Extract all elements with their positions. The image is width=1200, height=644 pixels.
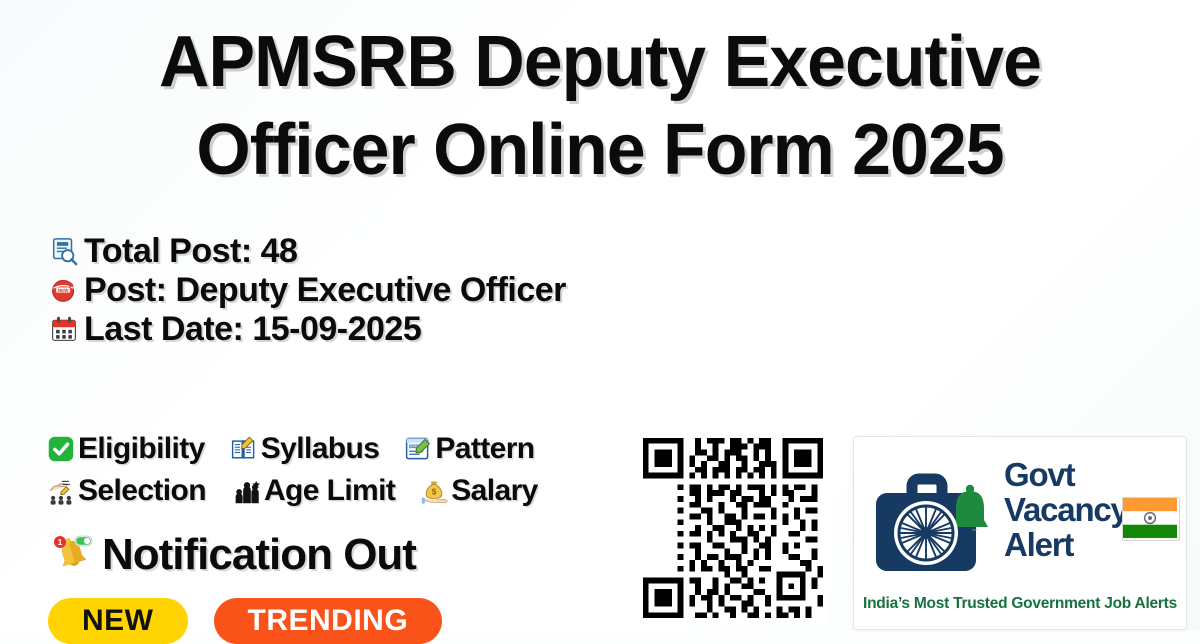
- svg-text:$: $: [432, 488, 437, 497]
- exam-paper-icon: EXAM: [401, 433, 435, 465]
- open-book-icon: [227, 433, 261, 465]
- family-people-icon: [230, 475, 264, 507]
- detail-text: Last Date: 15-09-2025: [84, 310, 421, 348]
- tag-grid: Eligibility: [44, 428, 634, 512]
- tag-row-1: Eligibility: [44, 428, 634, 470]
- detail-text: Post: Deputy Executive Officer: [84, 271, 566, 309]
- brand-line-1: Govt: [1004, 457, 1126, 492]
- poster-stage: APMSRB Deputy Executive Officer Online F…: [0, 0, 1200, 630]
- hand-writing-icon: [44, 475, 78, 507]
- title-line-1: APMSRB Deputy Executive: [18, 18, 1182, 106]
- status-badge-trending[interactable]: TRENDING: [214, 598, 443, 644]
- brand-name: Govt Vacancy Alert: [1004, 457, 1126, 562]
- tag-label: Salary: [451, 474, 537, 508]
- tag-label: Selection: [78, 474, 206, 508]
- logo-top: Govt Vacancy Alert: [864, 449, 1176, 585]
- detail-row-post: NEW Post: Deputy Executive Officer: [44, 271, 566, 309]
- svg-text:1: 1: [58, 537, 63, 547]
- notification-banner: 1 Notification Out: [44, 528, 416, 582]
- brand-tagline: India’s Most Trusted Government Job Aler…: [854, 595, 1186, 613]
- brand-line-2: Vacancy: [1004, 492, 1126, 527]
- tag-row-2: Selection Age Limit: [44, 470, 634, 512]
- tag-label: Eligibility: [78, 432, 205, 466]
- notification-label: Notification Out: [102, 530, 416, 580]
- badge-row: NEW TRENDING: [48, 598, 442, 644]
- tag-pattern[interactable]: EXAM Pattern: [401, 432, 534, 466]
- tag-syllabus[interactable]: Syllabus: [227, 432, 380, 466]
- detail-row-total-post: Total Post: 48: [44, 232, 566, 270]
- tag-salary[interactable]: $ Salary: [417, 474, 537, 508]
- svg-text:NEW: NEW: [58, 288, 69, 293]
- money-bag-icon: $: [417, 475, 451, 507]
- title-line-2: Officer Online Form 2025: [18, 106, 1182, 194]
- brand-logo-card: Govt Vacancy Alert India’s Most Trusted …: [853, 436, 1187, 630]
- detail-text: Total Post: 48: [84, 232, 297, 270]
- tag-age-limit[interactable]: Age Limit: [230, 474, 395, 508]
- tag-eligibility[interactable]: Eligibility: [44, 432, 205, 466]
- qr-code[interactable]: [637, 432, 829, 624]
- new-post-badge-icon: NEW: [44, 273, 84, 307]
- check-mark-icon: [44, 433, 78, 465]
- page-title: APMSRB Deputy Executive Officer Online F…: [0, 18, 1200, 194]
- status-badge-new[interactable]: NEW: [48, 598, 188, 644]
- bell-notification-icon: 1: [44, 528, 102, 582]
- briefcase-bell-chakra-logo-icon: [868, 467, 996, 579]
- brand-line-3: Alert: [1004, 527, 1126, 562]
- india-flag-icon: [1122, 497, 1180, 541]
- tag-label: Pattern: [435, 432, 534, 466]
- tag-selection[interactable]: Selection: [44, 474, 206, 508]
- tag-label: Age Limit: [264, 474, 395, 508]
- calendar-icon: [44, 312, 84, 346]
- details-list: Total Post: 48 NEW Post: Deputy Executiv…: [44, 232, 566, 349]
- detail-row-last-date: Last Date: 15-09-2025: [44, 310, 566, 348]
- tag-label: Syllabus: [261, 432, 380, 466]
- document-search-icon: [44, 234, 84, 268]
